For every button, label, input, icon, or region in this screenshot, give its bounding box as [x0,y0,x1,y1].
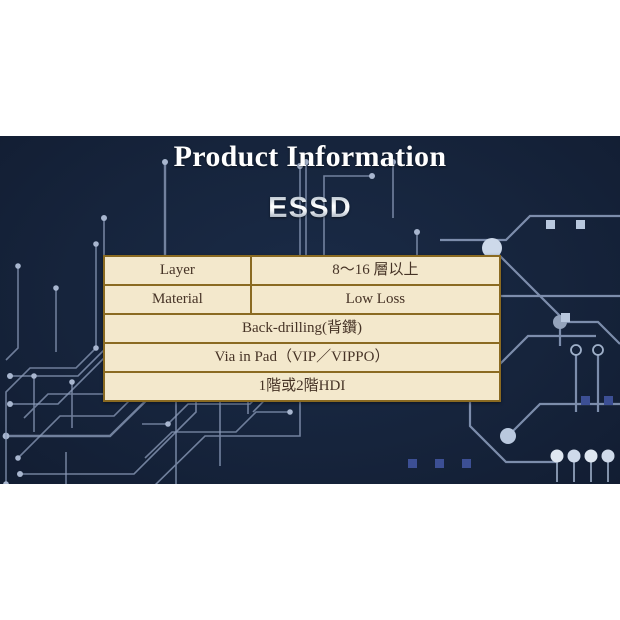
table-row: Material Low Loss [104,285,500,314]
spec-label-layer: Layer [104,256,251,285]
table-row: Via in Pad（VIP／VIPPO） [104,343,500,372]
spec-value-via-in-pad: Via in Pad（VIP／VIPPO） [104,343,500,372]
spec-value-layer: 8〜16 層以上 [251,256,500,285]
bottom-pin-pads [551,450,615,483]
slide-canvas: Product Information ESSD Layer 8〜16 層以上 … [0,0,620,620]
table-row: Layer 8〜16 層以上 [104,256,500,285]
table-row: 1階或2階HDI [104,372,500,401]
spec-value-hdi: 1階或2階HDI [104,372,500,401]
spec-value-material: Low Loss [251,285,500,314]
table-row: Back-drilling(背鑽) [104,314,500,343]
spec-table-body: Layer 8〜16 層以上 Material Low Loss Back-dr… [104,256,500,401]
page-title: Product Information [0,140,620,174]
spec-label-material: Material [104,285,251,314]
page-subtitle: ESSD [0,192,620,225]
spec-value-back-drilling: Back-drilling(背鑽) [104,314,500,343]
product-spec-table: Layer 8〜16 層以上 Material Low Loss Back-dr… [103,255,501,402]
